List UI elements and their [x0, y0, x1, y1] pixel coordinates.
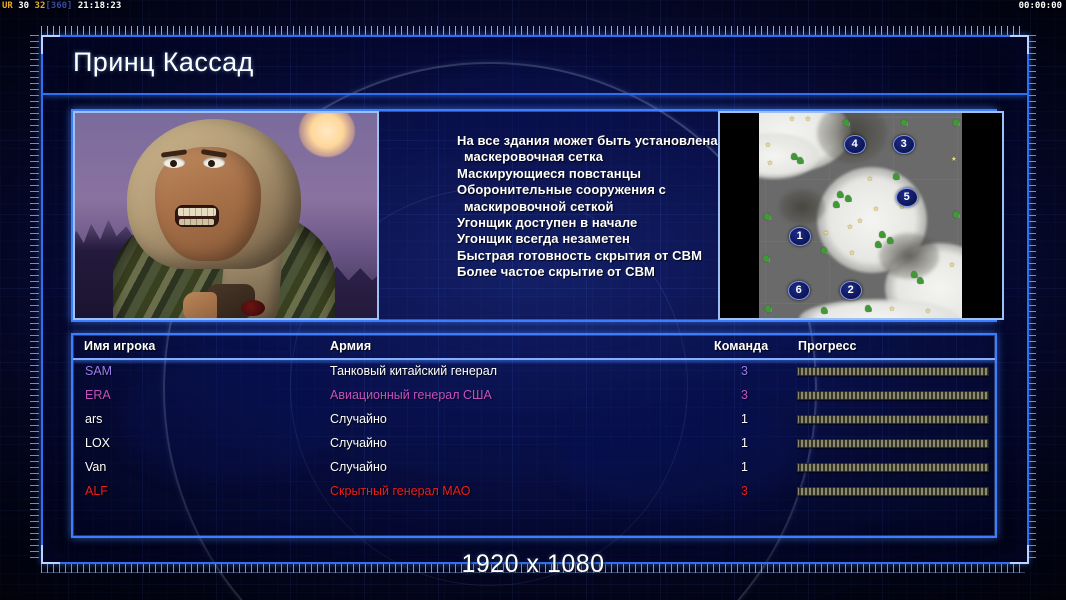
minimap-tree: [843, 119, 849, 126]
player-team[interactable]: 3: [741, 484, 748, 498]
player-name: ERA: [85, 388, 111, 402]
column-header-player-name: Имя игрока: [84, 339, 155, 353]
minimap-tree: [917, 277, 923, 284]
general-ability-list: На все здания может быть установлена мас…: [379, 111, 718, 320]
portrait-hand: [183, 292, 217, 320]
ability-line: Быстрая готовность скрытия от СВМ: [457, 248, 718, 264]
ability-line: маскеровочная сетка: [457, 149, 718, 165]
debug-bracket: [360]: [45, 1, 72, 11]
debug-overlay-left: UR 30 32[360] 21:18:23: [2, 1, 121, 11]
player-progress-bar: [797, 463, 989, 472]
start-position-marker[interactable]: 4: [844, 135, 866, 154]
minimap-tree: [791, 153, 797, 160]
player-progress-bar: [797, 391, 989, 400]
player-army[interactable]: Скрытный генерал МАО: [330, 484, 470, 498]
column-header-army: Армия: [330, 339, 371, 353]
minimap-resource: ★: [789, 117, 794, 122]
minimap-resource: ★: [867, 177, 872, 182]
minimap-tree: [763, 255, 769, 262]
minimap-tree: [833, 201, 839, 208]
player-team[interactable]: 1: [741, 412, 748, 426]
player-table-header: Имя игрока Армия Команда Прогресс: [73, 335, 995, 360]
player-progress-bar: [797, 439, 989, 448]
start-position-marker[interactable]: 5: [896, 188, 918, 207]
minimap-tree: [821, 247, 827, 254]
map-preview[interactable]: ★ ★ ★ ★ ★ ★ ★ ★ ★ ★ ★ ★ ★ ★ ★ 1 2: [718, 111, 1004, 320]
minimap-resource: ★: [951, 157, 956, 162]
player-army[interactable]: Авиационный генерал США: [330, 388, 492, 402]
resolution-label: 1920 x 1080: [0, 550, 1066, 579]
minimap-resource: ★: [857, 219, 862, 224]
ability-line: Оборонительные сооружения с: [457, 182, 718, 198]
ability-line: маскировочной сеткой: [457, 199, 718, 215]
table-row[interactable]: LOX Случайно 1: [73, 432, 995, 456]
player-army[interactable]: Случайно: [330, 436, 387, 450]
player-name: Van: [85, 460, 106, 474]
minimap-tree: [765, 305, 771, 312]
minimap-resource: ★: [823, 231, 828, 236]
debug-fps-1: 30: [18, 1, 29, 11]
ability-line: На все здания может быть установлена: [457, 133, 718, 149]
minimap-tree: [953, 119, 959, 126]
minimap-resource: ★: [949, 263, 954, 268]
minimap-resource: ★: [847, 225, 852, 230]
player-team[interactable]: 3: [741, 388, 748, 402]
player-name: SAM: [85, 364, 112, 378]
title-bar: Принц Кассад: [43, 37, 1027, 95]
player-army[interactable]: Случайно: [330, 412, 387, 426]
minimap-tree: [887, 237, 893, 244]
player-list-panel: Имя игрока Армия Команда Прогресс SAM Та…: [71, 333, 997, 538]
minimap-tree: [953, 211, 959, 218]
general-portrait: [73, 111, 379, 320]
debug-clock: 21:18:23: [78, 1, 121, 11]
minimap-tree: [764, 213, 770, 220]
player-progress-bar: [797, 415, 989, 424]
table-row[interactable]: ERA Авиационный генерал США 3: [73, 384, 995, 408]
table-row[interactable]: SAM Танковый китайский генерал 3: [73, 360, 995, 384]
portrait-pupil-left: [170, 160, 177, 167]
start-position-marker[interactable]: 6: [788, 281, 810, 300]
main-frame: Принц Кассад: [41, 35, 1029, 564]
column-header-progress: Прогресс: [798, 339, 857, 353]
minimap-tree: [911, 271, 917, 278]
start-position-marker[interactable]: 3: [893, 135, 915, 154]
column-header-team: Команда: [714, 339, 768, 353]
player-progress-bar: [797, 367, 989, 376]
table-row[interactable]: Van Случайно 1: [73, 456, 995, 480]
minimap-terrain: ★ ★ ★ ★ ★ ★ ★ ★ ★ ★ ★ ★ ★ ★ ★ 1 2: [759, 113, 962, 318]
player-name: LOX: [85, 436, 110, 450]
portrait-teeth-upper: [178, 208, 216, 216]
page-title: Принц Кассад: [73, 47, 254, 78]
player-army[interactable]: Танковый китайский генерал: [330, 364, 497, 378]
ability-line: Угонщик доступен в начале: [457, 215, 718, 231]
frame-corner-top-left: [41, 35, 60, 54]
minimap-resource: ★: [889, 307, 894, 312]
minimap-tree: [865, 305, 871, 312]
portrait-backdrop: [75, 113, 377, 318]
start-position-marker[interactable]: 1: [789, 227, 811, 246]
player-team[interactable]: 1: [741, 436, 748, 450]
ability-line: Маскирующиеся повстанцы: [457, 166, 718, 182]
minimap-resource: ★: [767, 161, 772, 166]
table-row[interactable]: ars Случайно 1: [73, 408, 995, 432]
table-row[interactable]: ALF Скрытный генерал МАО 3: [73, 480, 995, 504]
player-progress-bar: [797, 487, 989, 496]
ability-line: Угонщик всегда незаметен: [457, 231, 718, 247]
debug-fps-2: 32: [35, 1, 46, 11]
minimap-tree: [893, 173, 899, 180]
start-position-marker[interactable]: 2: [840, 281, 862, 300]
minimap-resource: ★: [873, 207, 878, 212]
minimap-tree: [845, 195, 851, 202]
player-team[interactable]: 1: [741, 460, 748, 474]
portrait-teeth-lower: [179, 219, 214, 225]
portrait-cup: [241, 300, 265, 316]
frame-corner-top-right: [1010, 35, 1029, 54]
player-team[interactable]: 3: [741, 364, 748, 378]
minimap-tree: [797, 157, 803, 164]
debug-ur-label: UR: [2, 1, 13, 11]
minimap-tree: [879, 231, 885, 238]
minimap-resource: ★: [805, 117, 810, 122]
minimap-tree: [821, 307, 827, 314]
minimap-tree: [875, 241, 881, 248]
player-army[interactable]: Случайно: [330, 460, 387, 474]
minimap-resource: ★: [925, 309, 930, 314]
minimap-tree: [901, 119, 907, 126]
minimap-dark-patch: [779, 189, 825, 225]
game-lobby-screen: UR 30 32[360] 21:18:23 00:00:00 Принц Ка…: [0, 0, 1066, 600]
minimap-resource: ★: [765, 143, 770, 148]
sun-icon: [299, 111, 355, 157]
player-name: ALF: [85, 484, 108, 498]
minimap-tree: [837, 191, 843, 198]
portrait-pupil-right: [208, 160, 215, 167]
general-info-panel: На все здания может быть установлена мас…: [71, 109, 997, 322]
ruler-ticks-left: [30, 35, 39, 560]
ability-line: Более частое скрытие от СВМ: [457, 264, 718, 280]
minimap-resource: ★: [849, 251, 854, 256]
player-name: ars: [85, 412, 102, 426]
debug-overlay-right: 00:00:00: [1019, 1, 1062, 11]
